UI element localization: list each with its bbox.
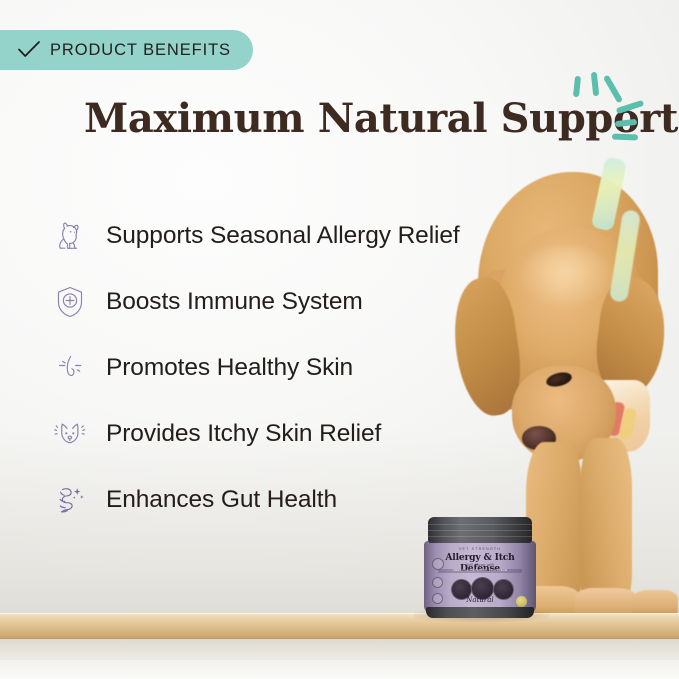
benefit-label: Boosts Immune System xyxy=(106,288,363,316)
product-benefits-infographic: VET STRENGTH Allergy & Itch Defense Soft… xyxy=(0,0,679,679)
hair-follicle-icon xyxy=(50,348,90,388)
jar-brand-line: VET STRENGTH xyxy=(424,547,536,551)
burst-dash-5 xyxy=(615,119,638,127)
wooden-shelf xyxy=(0,614,679,640)
product-benefits-badge: PRODUCT BENEFITS xyxy=(0,30,253,70)
dog-face-icon xyxy=(50,414,90,454)
benefit-label: Provides Itchy Skin Relief xyxy=(106,420,381,448)
jar-body: VET STRENGTH Allergy & Itch Defense Soft… xyxy=(424,541,536,614)
floor-area xyxy=(0,660,679,679)
jar-base xyxy=(426,607,534,618)
burst-dash-3 xyxy=(603,75,623,104)
dog-front-leg-right xyxy=(580,438,632,606)
jar-badge-mid-left xyxy=(432,577,443,588)
jar-script-word: Natural xyxy=(424,596,536,604)
benefit-label: Supports Seasonal Allergy Relief xyxy=(106,222,460,250)
benefit-label: Enhances Gut Health xyxy=(106,486,337,514)
benefit-item-immune-system: Boosts Immune System xyxy=(50,278,480,326)
jar-badge-top-left xyxy=(432,558,444,570)
jar-ingredient-strip: OMEGA 3 • QUERCETIN • COLOSTRUM xyxy=(438,569,522,573)
scratching-dog-icon xyxy=(50,216,90,256)
shield-cross-icon xyxy=(50,282,90,322)
jar-ingredient-text: OMEGA 3 • QUERCETIN • COLOSTRUM xyxy=(438,569,522,573)
benefit-item-allergy-relief: Supports Seasonal Allergy Relief xyxy=(50,212,480,260)
benefit-item-healthy-skin: Promotes Healthy Skin xyxy=(50,344,480,392)
burst-dash-6 xyxy=(612,134,638,141)
intestine-sparkle-icon xyxy=(50,480,90,520)
check-icon xyxy=(18,41,40,59)
sparkle-burst xyxy=(560,62,650,147)
badge-label: PRODUCT BENEFITS xyxy=(50,41,231,60)
benefits-list: Supports Seasonal Allergy Relief Boosts … xyxy=(50,212,480,542)
dog-fur-highlight xyxy=(516,246,616,310)
burst-dash-2 xyxy=(591,72,599,96)
benefit-item-gut-health: Enhances Gut Health xyxy=(50,476,480,524)
benefit-label: Promotes Healthy Skin xyxy=(106,354,353,382)
burst-dash-1 xyxy=(573,76,581,98)
benefit-item-itchy-skin-relief: Provides Itchy Skin Relief xyxy=(50,410,480,458)
